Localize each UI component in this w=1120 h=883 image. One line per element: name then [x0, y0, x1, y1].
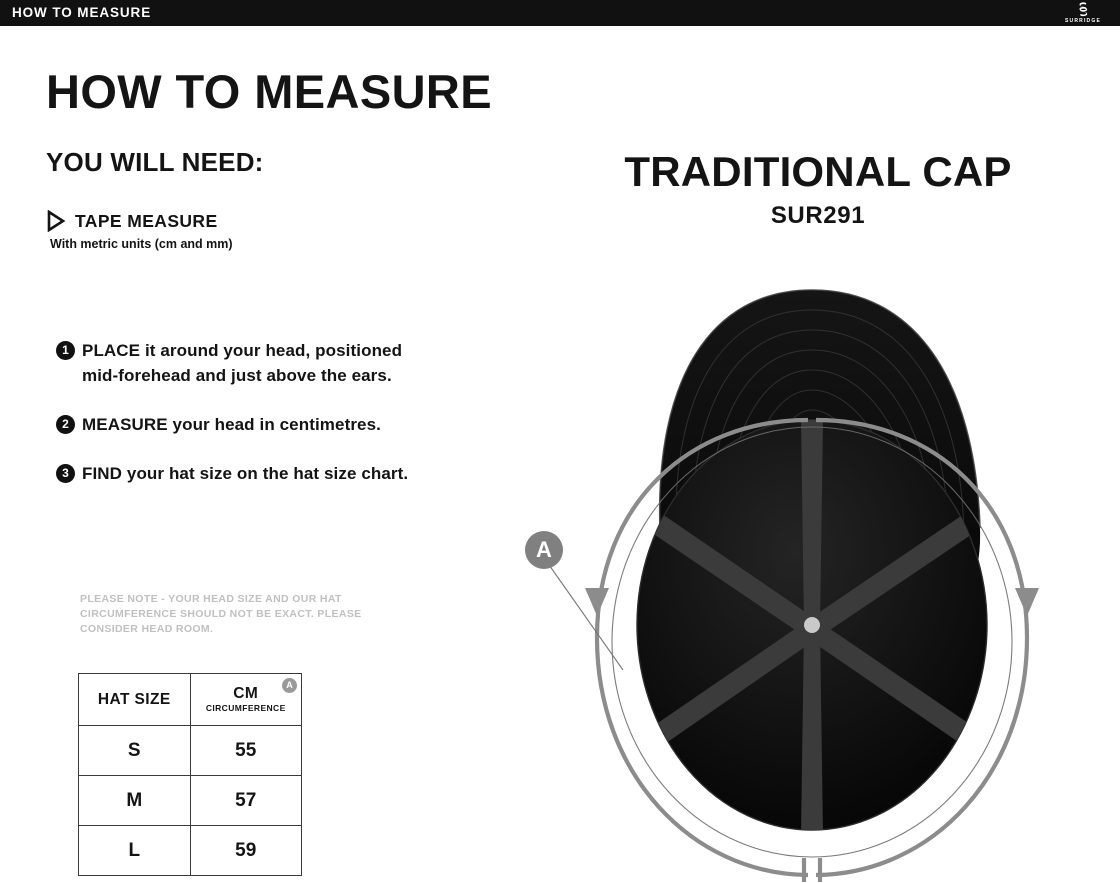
hat-size-header-label: HAT SIZE	[79, 691, 190, 709]
step-number-badge: 1	[56, 341, 75, 360]
tape-measure-subtitle: With metric units (cm and mm)	[50, 237, 233, 251]
disclaimer-note: PLEASE NOTE - YOUR HEAD SIZE AND OUR HAT…	[80, 592, 400, 637]
header-title: HOW TO MEASURE	[12, 5, 151, 20]
product-name: TRADITIONAL CAP	[588, 148, 1048, 196]
list-item: 3 FIND your hat size on the hat size cha…	[56, 461, 416, 486]
callout-leader-line	[547, 562, 623, 670]
crown-button-icon	[804, 617, 820, 633]
step-text: FIND your hat size on the hat size chart…	[82, 461, 408, 486]
table-row: M 57	[79, 776, 302, 826]
circumference-header-label: CIRCUMFERENCE	[191, 703, 302, 714]
hat-size-chart-table: HAT SIZE CM CIRCUMFERENCE A S 55 M 57 L …	[78, 673, 302, 876]
list-item: 2 MEASURE your head in centimetres.	[56, 412, 416, 437]
measure-steps-list: 1 PLACE it around your head, positioned …	[56, 338, 416, 510]
step-text: PLACE it around your head, positioned mi…	[82, 338, 416, 388]
table-header-row: HAT SIZE CM CIRCUMFERENCE A	[79, 674, 302, 726]
step-text: MEASURE your head in centimetres.	[82, 412, 381, 437]
brand-name: SURRIDGE	[1065, 18, 1101, 24]
you-will-need-heading: YOU WILL NEED:	[46, 147, 264, 178]
cell-cm: 59	[190, 826, 302, 876]
tape-measure-label: TAPE MEASURE	[75, 211, 218, 232]
cell-hat-size: M	[79, 776, 191, 826]
triangle-bullet-icon	[46, 210, 66, 232]
traditional-cap-underside-diagram-icon	[505, 270, 1065, 883]
column-header-hat-size: HAT SIZE	[79, 674, 191, 726]
table-row: L 59	[79, 826, 302, 876]
how-to-measure-page: HOW TO MEASURE SURRIDGE HOW TO MEASURE Y…	[0, 0, 1120, 883]
column-header-cm-circumference: CM CIRCUMFERENCE A	[190, 674, 302, 726]
list-item: 1 PLACE it around your head, positioned …	[56, 338, 416, 388]
cell-cm: 57	[190, 776, 302, 826]
measurement-callout-a-icon: A	[525, 531, 563, 569]
tape-measure-item: TAPE MEASURE	[46, 210, 218, 232]
step-number-badge: 3	[56, 464, 75, 483]
cell-hat-size: L	[79, 826, 191, 876]
table-row: S 55	[79, 726, 302, 776]
top-header-bar: HOW TO MEASURE SURRIDGE	[0, 0, 1120, 26]
product-code: SUR291	[588, 202, 1048, 230]
page-title: HOW TO MEASURE	[46, 64, 492, 119]
brand-logo: SURRIDGE	[1054, 1, 1112, 25]
surridge-s-monogram-icon	[1075, 2, 1091, 17]
step-number-badge: 2	[56, 415, 75, 434]
measure-endcaps-icon	[804, 858, 820, 882]
cell-cm: 55	[190, 726, 302, 776]
measurement-a-badge-icon: A	[282, 678, 297, 693]
cell-hat-size: S	[79, 726, 191, 776]
